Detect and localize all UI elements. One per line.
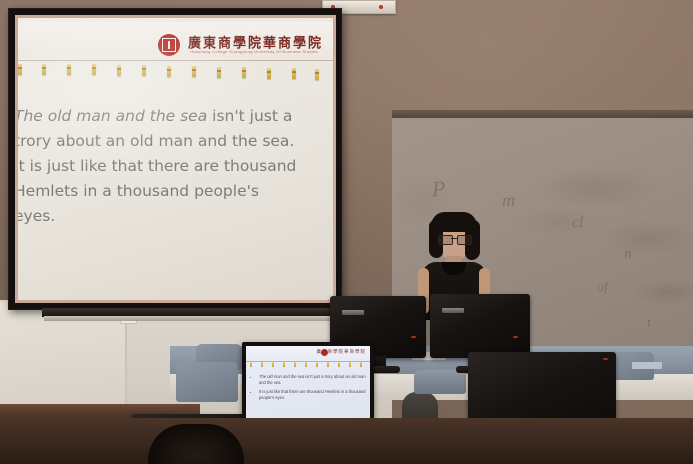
slide-tassel-row: [18, 62, 333, 78]
slide-line: The old man and the sea isn't just a: [18, 104, 303, 129]
desk-papers: [632, 362, 662, 369]
tassel-icon: [167, 66, 171, 77]
tassel-icon: [315, 69, 319, 80]
power-led-icon: [411, 336, 416, 338]
mini-slide-institution-cn: 廣東商學院華商學院: [317, 349, 367, 355]
tassel-icon: [42, 64, 46, 75]
classroom-photo-scene: P m cl n of t 廣東商學院華商學院 Huashang College…: [0, 0, 693, 464]
tassel-icon: [142, 65, 146, 76]
monitor-center-front[interactable]: 廣東商學院華商學院 The old man and the sea isn't …: [242, 342, 374, 426]
mini-tassel-row: [248, 362, 368, 369]
tassel-icon: [18, 64, 22, 75]
mini-slide-bullets: The old man and the sea isn't just a tro…: [253, 374, 366, 404]
projector-screen-lip: [44, 316, 340, 321]
foreground-desk: [0, 418, 693, 464]
lenovo-badge-icon: [442, 308, 464, 313]
monitor-slide-display: 廣東商學院華商學院 The old man and the sea isn't …: [246, 346, 370, 421]
slide-line-rest: Hemlets in a thousand people's eyes.: [18, 182, 259, 225]
tassel-icon: [117, 65, 121, 76]
list-item: It is just like that there are thousand …: [259, 389, 366, 401]
chair[interactable]: [176, 362, 238, 402]
tassel-icon: [292, 68, 296, 79]
projected-slide: 廣東商學院華商學院 Huashang College Guangdong Uni…: [18, 18, 333, 300]
list-item: The old man and the sea isn't just a tro…: [259, 374, 366, 386]
university-logo-icon: [158, 34, 180, 56]
slide-line: trory about an old man and the sea.: [18, 129, 303, 154]
slide-body-text: The old man and the sea isn't just a tro…: [18, 104, 303, 229]
lenovo-badge-icon: [342, 310, 364, 315]
slide-line-rest: isn't just a: [207, 107, 292, 125]
tassel-icon: [192, 66, 196, 77]
slide-line-rest: trory about an old man and the sea.: [18, 132, 294, 150]
slide-line: Hemlets in a thousand people's eyes.: [18, 179, 303, 229]
projector-screen: 廣東商學院華商學院 Huashang College Guangdong Uni…: [8, 8, 342, 310]
monitor-right-rear[interactable]: [430, 294, 530, 358]
slide-line-rest: It is just like that there are thousand: [18, 157, 296, 175]
chair[interactable]: [414, 370, 466, 394]
power-led-icon: [603, 358, 608, 360]
glasses-icon: [438, 235, 470, 243]
tassel-icon: [217, 67, 221, 78]
projector-screen-border: 廣東商學院華商學院 Huashang College Guangdong Uni…: [15, 15, 336, 303]
tassel-icon: [242, 67, 246, 78]
slide-institution-en: Huashang College Guangdong University Of…: [190, 49, 318, 54]
bullet-italic: The old man and the sea: [259, 374, 304, 379]
tassel-icon: [92, 64, 96, 75]
bullet-rest: It is just like that there are thousand …: [259, 389, 366, 400]
tassel-icon: [67, 64, 71, 75]
slide-header-rule: [18, 60, 333, 61]
power-led-icon: [513, 336, 518, 338]
slide-line-italic: The old man and the sea: [18, 107, 207, 125]
slide-line: It is just like that there are thousand: [18, 154, 303, 179]
tassel-icon: [267, 68, 271, 79]
